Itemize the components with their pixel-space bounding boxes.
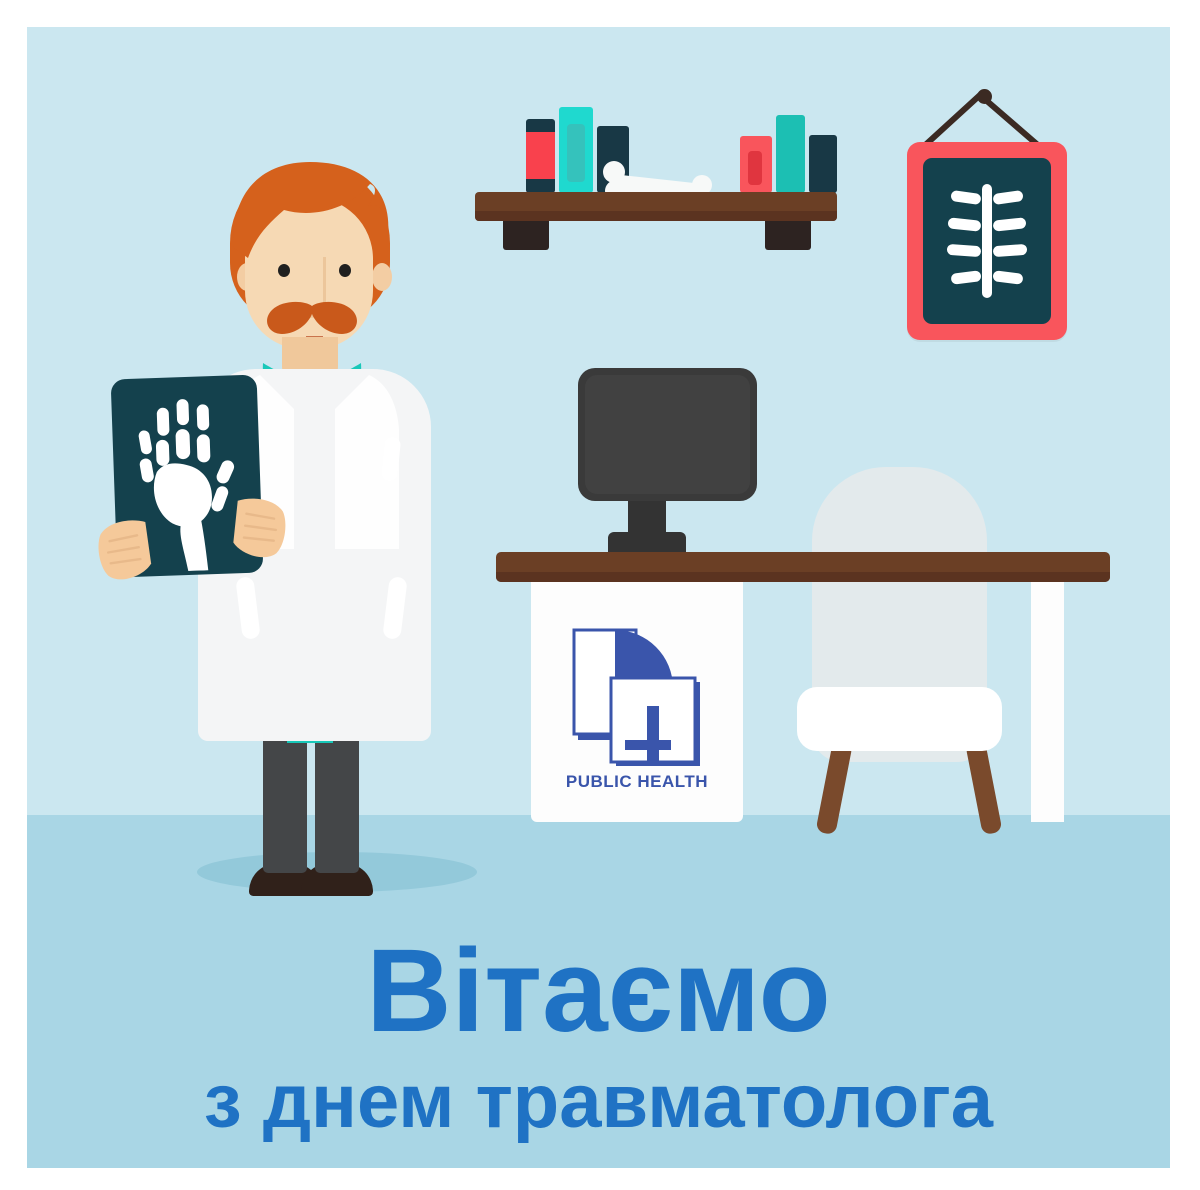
xray-frame-screen <box>923 158 1051 324</box>
book-red-left-cap-bottom <box>526 179 555 193</box>
doctor-character <box>87 137 467 897</box>
monitor-screen <box>578 368 757 501</box>
frame-nail-icon <box>977 89 992 104</box>
doctor-hand-left <box>91 513 162 587</box>
doctor-hair-front <box>228 162 393 266</box>
doctor-eye-left <box>278 264 290 277</box>
ribcage-xray-icon <box>945 180 1029 302</box>
shelf-bracket-left <box>503 221 549 250</box>
book-cyan-panel <box>567 124 585 182</box>
greeting-caption: Вітаємо з днем травматолога <box>27 932 1170 1140</box>
doctor-eye-right <box>339 264 351 277</box>
caption-line-2: з днем травматолога <box>27 1064 1170 1140</box>
public-health-logo-icon <box>569 620 709 768</box>
scene-plate: PUBLIC HEALTH <box>27 27 1170 1168</box>
desk-pedestal: PUBLIC HEALTH <box>531 580 743 822</box>
book-red-right-panel <box>748 151 762 185</box>
doctor-hand-right <box>224 492 293 564</box>
shelf-board <box>475 192 837 221</box>
book-navy-right <box>809 135 837 193</box>
desk-top <box>496 552 1110 582</box>
chair-seat <box>797 687 1002 751</box>
caption-line-1: Вітаємо <box>27 932 1170 1050</box>
desk-leg-right <box>1031 580 1064 822</box>
shelf-bracket-right <box>765 221 811 250</box>
book-teal-right <box>776 115 805 193</box>
public-health-logo-label: PUBLIC HEALTH <box>531 772 743 792</box>
doctor-mustache <box>264 300 360 340</box>
xray-frame-border <box>907 142 1067 340</box>
greeting-card-canvas: PUBLIC HEALTH <box>0 0 1200 1190</box>
doctor-ear-right <box>372 263 392 291</box>
book-red-left-cap-top <box>526 119 555 132</box>
